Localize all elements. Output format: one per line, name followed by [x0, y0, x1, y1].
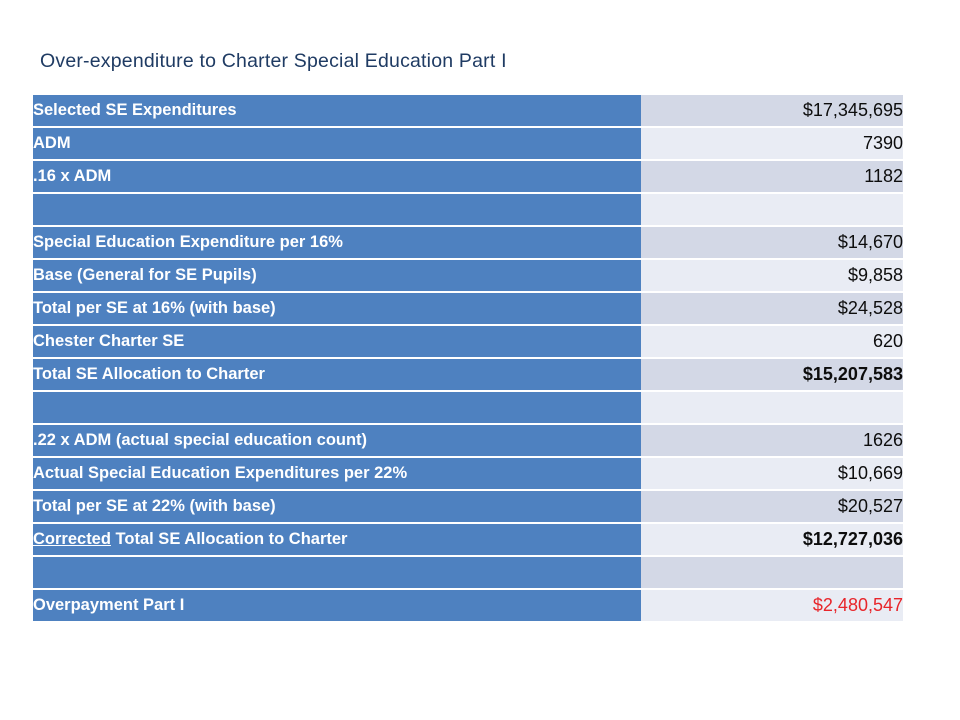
row-value-empty: [641, 392, 903, 425]
table-spacer-row: [33, 194, 903, 227]
row-label: ADM: [33, 128, 641, 161]
table-row: Total per SE at 16% (with base)$24,528: [33, 293, 903, 326]
table-spacer-row: [33, 557, 903, 590]
row-label: Selected SE Expenditures: [33, 95, 641, 128]
row-label-rest: Total SE Allocation to Charter: [111, 530, 348, 548]
row-value: $10,669: [641, 458, 903, 491]
table-row: Corrected Total SE Allocation to Charter…: [33, 524, 903, 557]
row-value: $14,670: [641, 227, 903, 260]
row-label-empty: [33, 557, 641, 590]
row-value: 1182: [641, 161, 903, 194]
row-value-empty: [641, 194, 903, 227]
row-label: Actual Special Education Expenditures pe…: [33, 458, 641, 491]
table-row: ADM7390: [33, 128, 903, 161]
table-spacer-row: [33, 392, 903, 425]
row-label: Total SE Allocation to Charter: [33, 359, 641, 392]
row-label: Chester Charter SE: [33, 326, 641, 359]
table-body: Selected SE Expenditures$17,345,695ADM73…: [33, 95, 903, 623]
over-expenditure-table: Selected SE Expenditures$17,345,695ADM73…: [33, 95, 903, 623]
row-label: Corrected Total SE Allocation to Charter: [33, 524, 641, 557]
table-row: Chester Charter SE620: [33, 326, 903, 359]
row-value: $20,527: [641, 491, 903, 524]
row-value: $2,480,547: [641, 590, 903, 623]
row-label: Special Education Expenditure per 16%: [33, 227, 641, 260]
page-title: Over-expenditure to Charter Special Educ…: [40, 50, 507, 73]
row-value: 1626: [641, 425, 903, 458]
row-value: 620: [641, 326, 903, 359]
row-label: Total per SE at 16% (with base): [33, 293, 641, 326]
table-row: Total SE Allocation to Charter$15,207,58…: [33, 359, 903, 392]
row-value: 7390: [641, 128, 903, 161]
row-label: Total per SE at 22% (with base): [33, 491, 641, 524]
table-row: Total per SE at 22% (with base)$20,527: [33, 491, 903, 524]
row-label-empty: [33, 194, 641, 227]
row-label-empty: [33, 392, 641, 425]
row-value: $9,858: [641, 260, 903, 293]
row-label: Overpayment Part I: [33, 590, 641, 623]
table-row: .22 x ADM (actual special education coun…: [33, 425, 903, 458]
table-row: Base (General for SE Pupils)$9,858: [33, 260, 903, 293]
row-value-empty: [641, 557, 903, 590]
row-label: .16 x ADM: [33, 161, 641, 194]
row-value: $12,727,036: [641, 524, 903, 557]
row-label-underlined-word: Corrected: [33, 530, 111, 548]
table-row: .16 x ADM1182: [33, 161, 903, 194]
row-label: .22 x ADM (actual special education coun…: [33, 425, 641, 458]
slide-canvas: Over-expenditure to Charter Special Educ…: [0, 0, 960, 720]
row-value: $15,207,583: [641, 359, 903, 392]
row-label: Base (General for SE Pupils): [33, 260, 641, 293]
row-value: $17,345,695: [641, 95, 903, 128]
row-value: $24,528: [641, 293, 903, 326]
table-row: Overpayment Part I$2,480,547: [33, 590, 903, 623]
table-row: Selected SE Expenditures$17,345,695: [33, 95, 903, 128]
table-row: Actual Special Education Expenditures pe…: [33, 458, 903, 491]
table-row: Special Education Expenditure per 16%$14…: [33, 227, 903, 260]
